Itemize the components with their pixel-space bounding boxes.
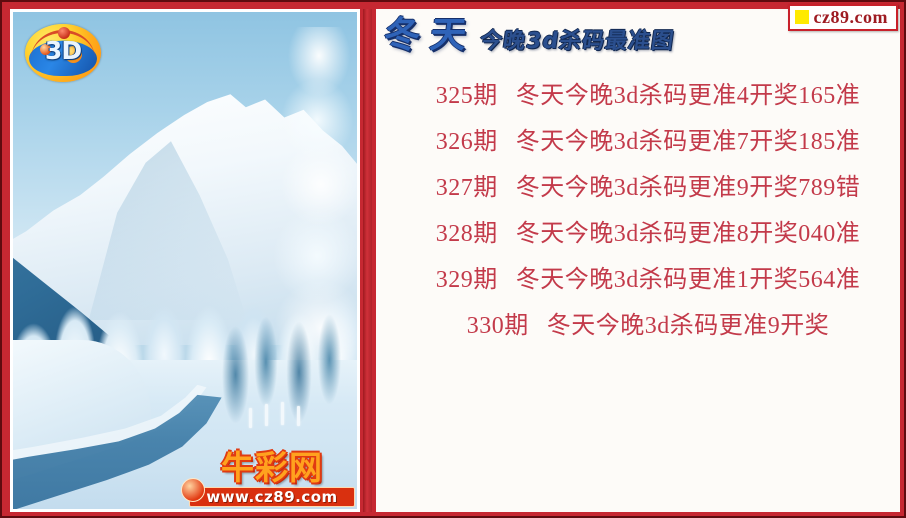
row-body: 冬天今晚3d杀码更准7开奖185准 xyxy=(516,119,861,165)
row-issue: 329期 xyxy=(424,257,498,303)
row-body: 冬天今晚3d杀码更准4开奖165准 xyxy=(516,73,861,119)
prediction-rows: 325期冬天今晚3d杀码更准4开奖165准 326期冬天今晚3d杀码更准7开奖1… xyxy=(376,73,900,349)
logo-label: 3D xyxy=(25,36,101,65)
site-watermark: 牛彩网 www.cz89.com xyxy=(189,450,355,509)
row-body: 冬天今晚3d杀码更准9开奖789错 xyxy=(516,165,861,211)
winter-landscape-photo: 3D 牛彩网 www.cz89.com xyxy=(13,12,357,509)
prediction-row: 327期冬天今晚3d杀码更准9开奖789错 xyxy=(394,165,890,211)
prediction-row: 330期冬天今晚3d杀码更准9开奖 xyxy=(394,303,890,349)
background-conifers xyxy=(219,300,357,429)
prediction-row: 328期冬天今晚3d杀码更准8开奖040准 xyxy=(394,211,890,257)
title-main-text: 冬天 xyxy=(382,13,479,59)
roadside-post xyxy=(249,408,252,428)
panel-divider xyxy=(363,9,372,512)
prediction-list-panel: 冬天今晚3d杀码最准图 325期冬天今晚3d杀码更准4开奖165准 326期冬天… xyxy=(376,9,900,512)
prediction-row: 326期冬天今晚3d杀码更准7开奖185准 xyxy=(394,119,890,165)
lottery-poster: 3D 牛彩网 www.cz89.com 冬天今晚3d杀码最准图 325期冬天今晚… xyxy=(0,0,906,518)
cz89-swatch-icon xyxy=(795,10,809,24)
row-body: 冬天今晚3d杀码更准9开奖 xyxy=(547,303,830,349)
roadside-post xyxy=(265,404,268,426)
lottery-3d-logo-icon: 3D xyxy=(25,24,101,82)
watermark-url: www.cz89.com xyxy=(189,487,355,507)
roadside-post xyxy=(297,406,300,426)
winter-photo-panel: 3D 牛彩网 www.cz89.com xyxy=(10,9,360,512)
watermark-seal-icon xyxy=(181,478,205,502)
watermark-brand: 牛彩网 xyxy=(189,450,355,486)
cz89-badge[interactable]: cz89.com xyxy=(788,4,898,31)
prediction-row: 325期冬天今晚3d杀码更准4开奖165准 xyxy=(394,73,890,119)
row-body: 冬天今晚3d杀码更准8开奖040准 xyxy=(516,211,861,257)
row-issue: 327期 xyxy=(424,165,498,211)
row-issue: 330期 xyxy=(455,303,529,349)
cz89-label: cz89.com xyxy=(814,7,888,27)
row-issue: 326期 xyxy=(424,119,498,165)
row-issue: 325期 xyxy=(424,73,498,119)
prediction-row: 329期冬天今晚3d杀码更准1开奖564准 xyxy=(394,257,890,303)
roadside-post xyxy=(281,402,284,425)
row-issue: 328期 xyxy=(424,211,498,257)
title-sub-text: 今晚3d杀码最准图 xyxy=(478,27,676,57)
row-body: 冬天今晚3d杀码更准1开奖564准 xyxy=(516,257,861,303)
